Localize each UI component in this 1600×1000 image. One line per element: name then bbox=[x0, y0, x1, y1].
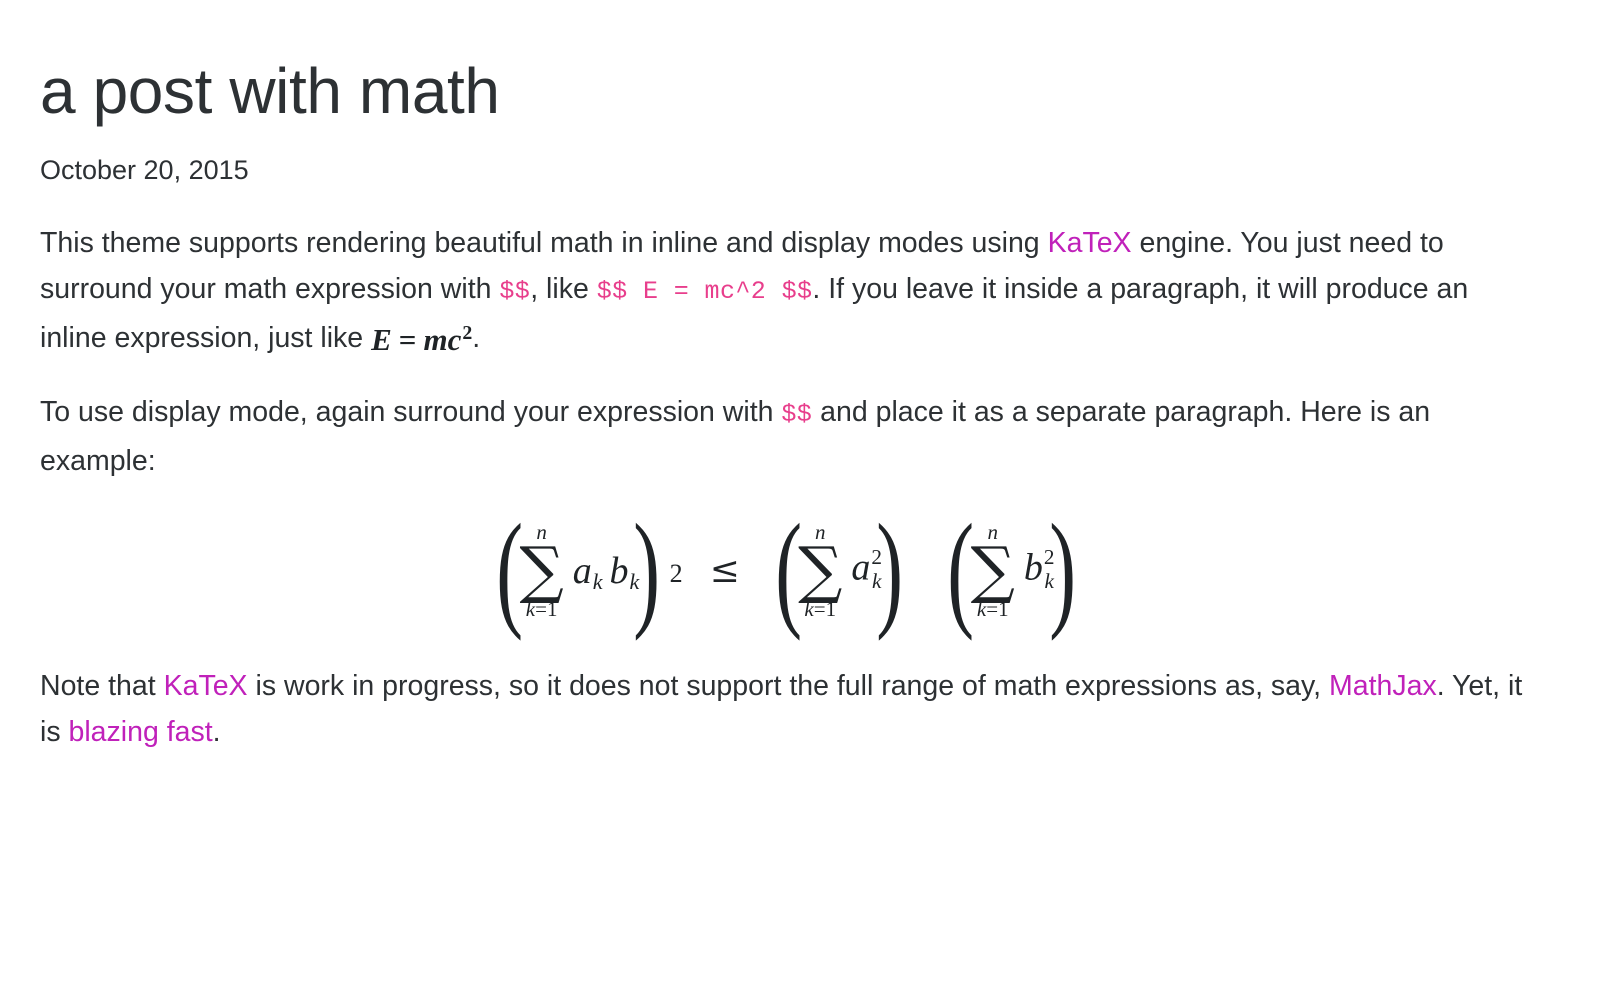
math-outer-exponent: 2 bbox=[670, 561, 683, 587]
math-subscript-k: k bbox=[593, 569, 603, 594]
math-paren-close: ) bbox=[876, 520, 903, 621]
math-operator-equals: = bbox=[392, 322, 424, 357]
link-katex[interactable]: KaTeX bbox=[1048, 227, 1132, 259]
post-page: a post with math October 20, 2015 This t… bbox=[0, 0, 1600, 755]
math-index-equals: = bbox=[535, 597, 547, 621]
math-paren-open: ( bbox=[775, 520, 802, 621]
math-index-equals: = bbox=[986, 597, 998, 621]
math-base-b: b bbox=[1024, 546, 1043, 588]
math-lower-limit: k=1 bbox=[804, 599, 836, 620]
display-math-block: ( n ∑ k=1 ak bk ) 2 ≤ ( n bbox=[40, 520, 1532, 621]
link-katex[interactable]: KaTeX bbox=[164, 670, 248, 702]
text-fragment: , like bbox=[530, 273, 597, 305]
text-fragment: This theme supports rendering beautiful … bbox=[40, 227, 1048, 259]
math-base-a: a bbox=[573, 550, 592, 592]
math-base-a: a bbox=[851, 546, 870, 588]
math-lower-limit: k=1 bbox=[526, 599, 558, 620]
math-summation: n ∑ k=1 bbox=[520, 522, 564, 620]
math-paren-open: ( bbox=[948, 520, 975, 621]
paragraph-note: Note that KaTeX is work in progress, so … bbox=[40, 663, 1532, 755]
code-dollar-delimiters: $$ bbox=[781, 400, 812, 429]
code-dollar-delimiters: $$ bbox=[499, 277, 530, 306]
math-exponent: 2 bbox=[462, 322, 472, 344]
math-group-left: ( n ∑ k=1 ak bk ) 2 bbox=[488, 520, 682, 621]
math-index-value: 1 bbox=[998, 597, 1009, 621]
math-symbol-E: E bbox=[371, 322, 392, 357]
math-sigma-icon: ∑ bbox=[520, 545, 564, 596]
math-index-var: k bbox=[526, 597, 535, 621]
text-fragment: To use display mode, again surround your… bbox=[40, 396, 781, 428]
math-paren-close: ) bbox=[634, 520, 661, 621]
inline-math-emc2: E=mc2 bbox=[371, 324, 472, 355]
math-symbol-m: m bbox=[423, 322, 447, 357]
text-fragment: . bbox=[213, 716, 221, 748]
math-group-a-squared: ( n ∑ k=1 a2k ) bbox=[767, 520, 912, 621]
math-index-value: 1 bbox=[826, 597, 837, 621]
math-sigma-icon: ∑ bbox=[798, 545, 842, 596]
text-fragment: is work in progress, so it does not supp… bbox=[248, 670, 1329, 702]
math-sigma-icon: ∑ bbox=[971, 545, 1015, 596]
page-title: a post with math bbox=[40, 56, 1560, 128]
math-group-b-squared: ( n ∑ k=1 b2k ) bbox=[939, 520, 1084, 621]
link-blazing-fast[interactable]: blazing fast bbox=[69, 716, 213, 748]
math-index-var: k bbox=[977, 597, 986, 621]
math-summation: n ∑ k=1 bbox=[971, 522, 1015, 620]
math-summation: n ∑ k=1 bbox=[798, 522, 842, 620]
math-term-ak: ak bbox=[573, 552, 603, 590]
math-lower-limit: k=1 bbox=[977, 599, 1009, 620]
text-fragment: Note that bbox=[40, 670, 164, 702]
math-index-equals: = bbox=[814, 597, 826, 621]
cauchy-schwarz-equation: ( n ∑ k=1 ak bk ) 2 ≤ ( n bbox=[488, 520, 1084, 621]
math-paren-close: ) bbox=[1049, 520, 1076, 621]
post-date: October 20, 2015 bbox=[40, 154, 1560, 186]
math-base-b: b bbox=[610, 550, 629, 592]
paragraph-intro: This theme supports rendering beautiful … bbox=[40, 220, 1532, 361]
link-mathjax[interactable]: MathJax bbox=[1329, 670, 1437, 702]
math-paren-open: ( bbox=[496, 520, 523, 621]
code-emc2-sample: $$ E = mc^2 $$ bbox=[597, 277, 813, 306]
post-content: This theme supports rendering beautiful … bbox=[40, 220, 1532, 755]
math-index-var: k bbox=[804, 597, 813, 621]
text-fragment: . bbox=[472, 322, 480, 354]
math-index-value: 1 bbox=[547, 597, 558, 621]
paragraph-display-mode: To use display mode, again surround your… bbox=[40, 389, 1532, 484]
math-relation-leq: ≤ bbox=[692, 553, 758, 589]
math-symbol-c: c bbox=[448, 322, 462, 357]
